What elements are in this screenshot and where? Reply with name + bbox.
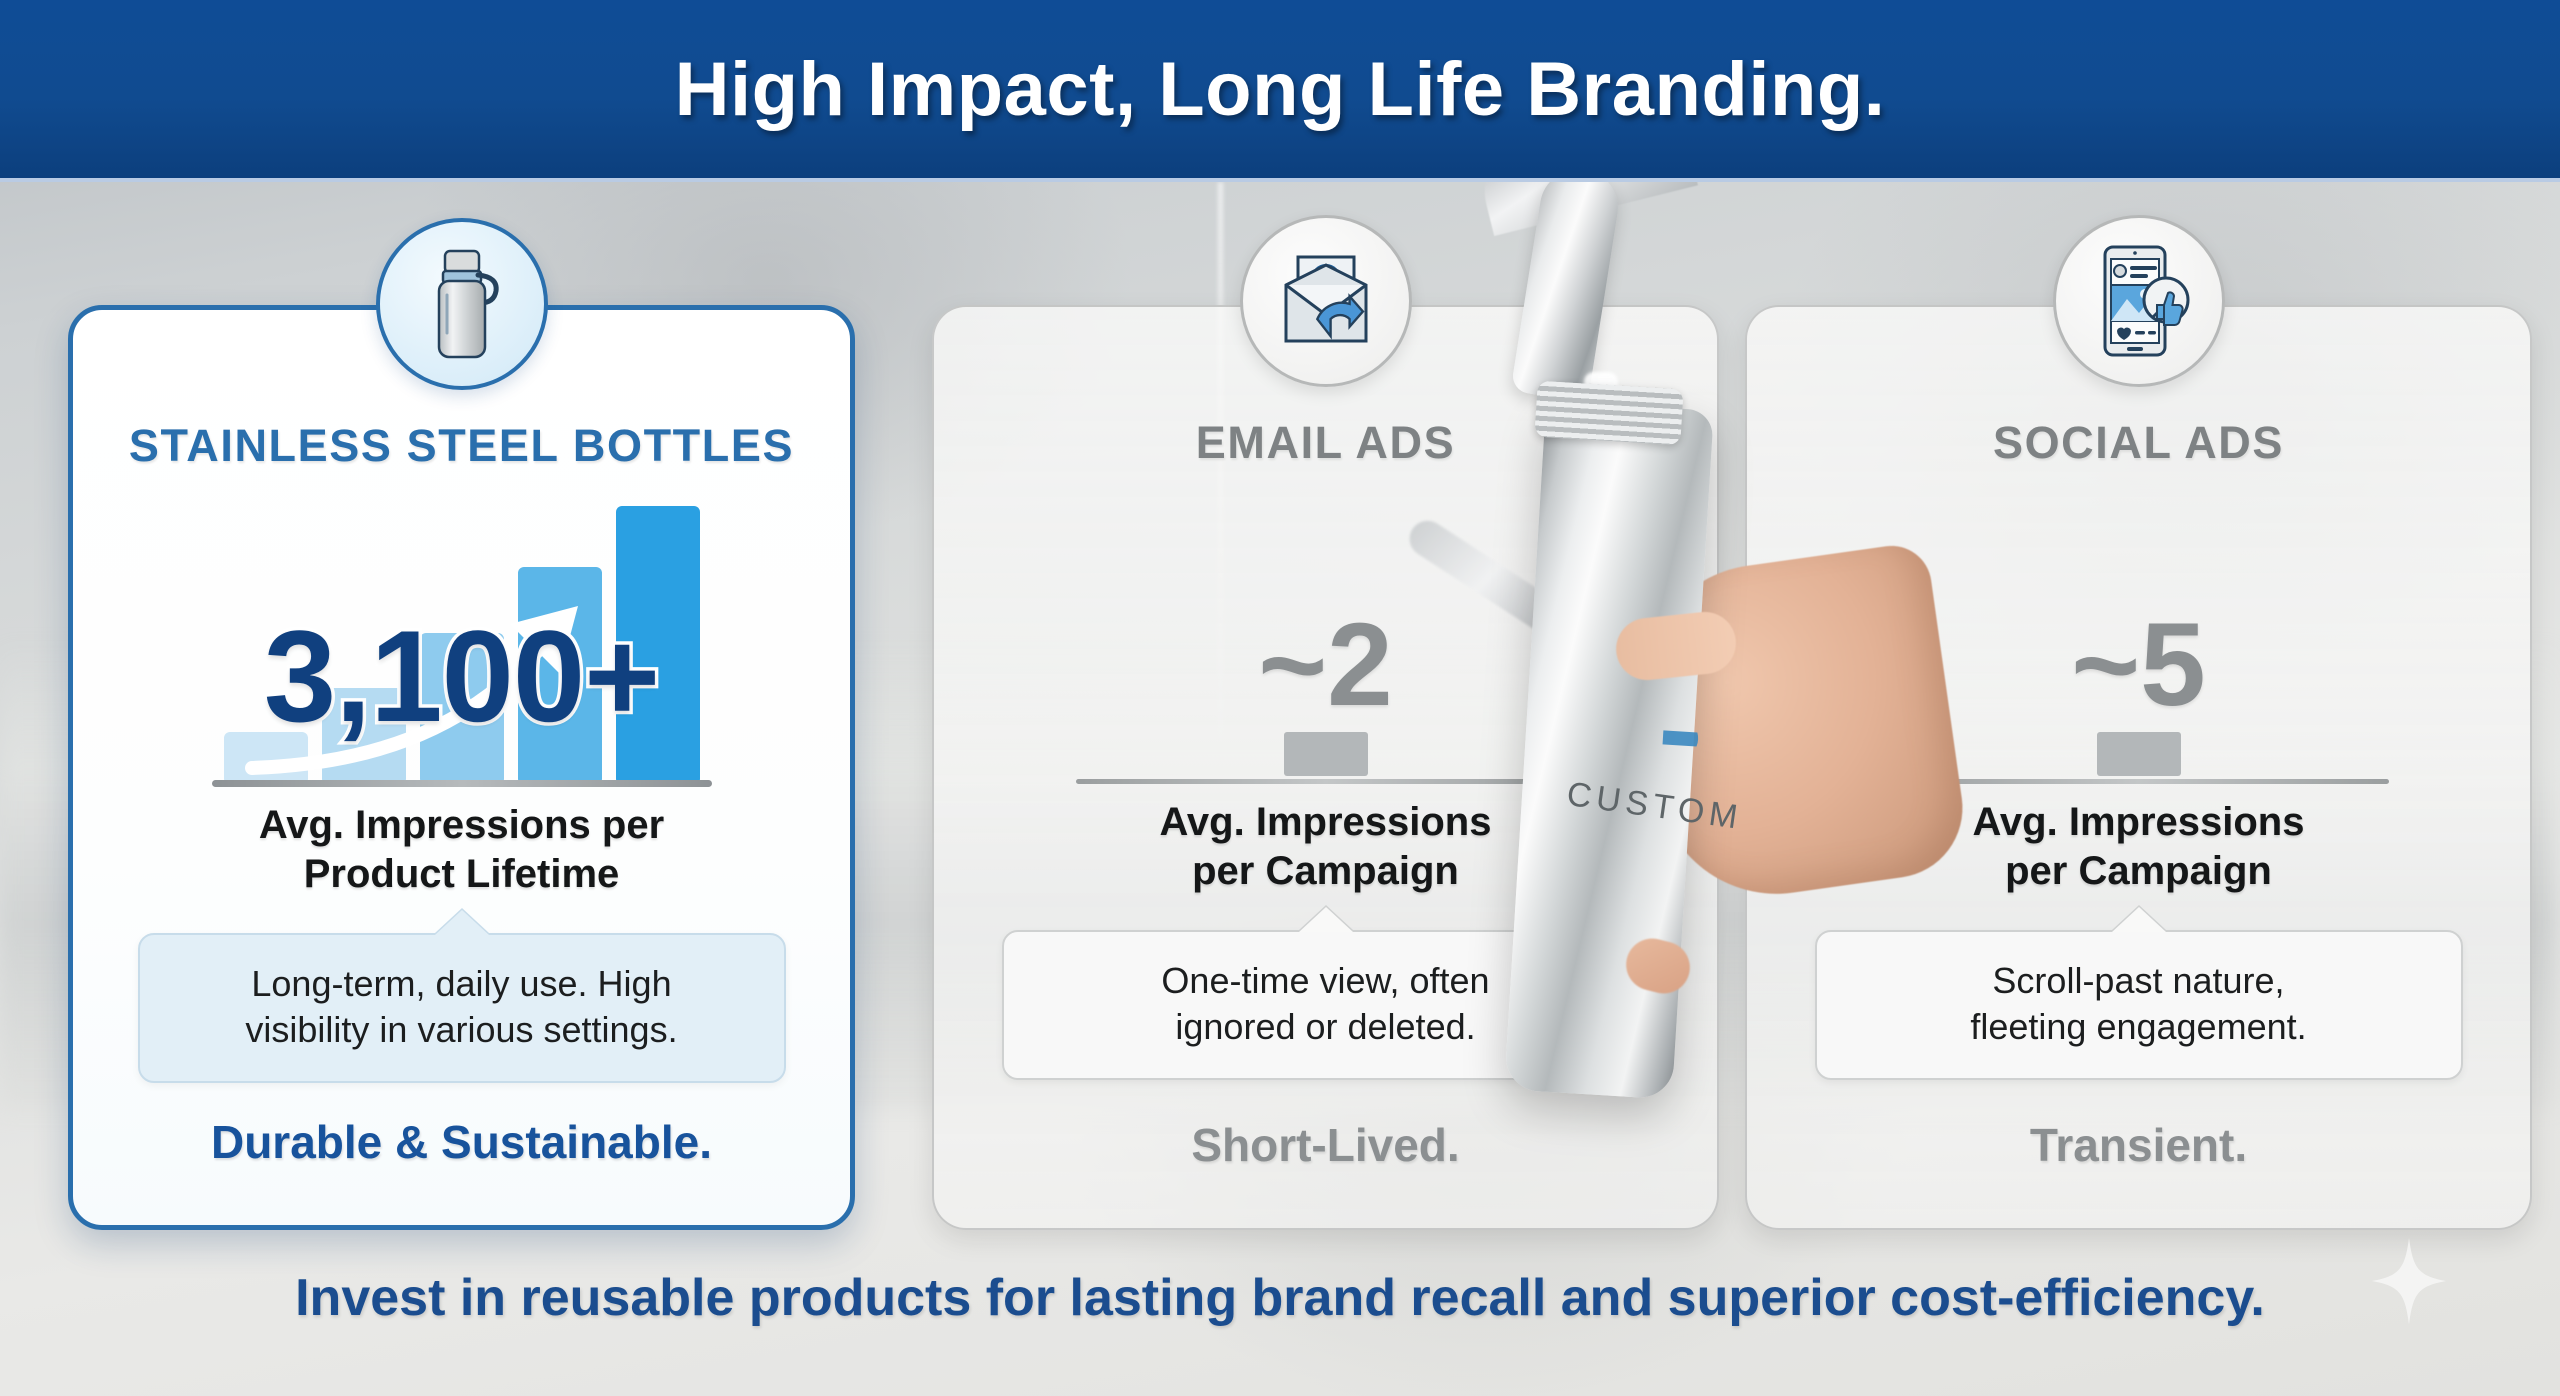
email-envelope-reply-icon xyxy=(1240,215,1412,387)
stat-label-line-2: Product Lifetime xyxy=(259,850,664,899)
card-footer-text: Transient. xyxy=(2030,1118,2247,1172)
chart-baseline xyxy=(1889,779,2389,784)
mini-bar xyxy=(1284,732,1368,776)
stat-label-line-2: per Campaign xyxy=(1973,847,2305,896)
card-footer-text: Durable & Sustainable. xyxy=(211,1115,712,1169)
stat-label-line-1: Avg. Impressions xyxy=(1973,798,2305,847)
stat-value: ~2 xyxy=(1258,606,1393,724)
stat-label: Avg. Impressions per Campaign xyxy=(1973,798,2305,896)
footer-caption: Invest in reusable products for lasting … xyxy=(0,1268,2560,1328)
comparison-cards: STAINLESS STEEL BOTTLES 3,100+ Avg. Impr… xyxy=(0,182,2560,1242)
chart-baseline xyxy=(1076,779,1576,784)
water-bottle-icon xyxy=(376,218,548,390)
callout-line-1: Long-term, daily use. High xyxy=(166,961,758,1007)
card-footer-text: Short-Lived. xyxy=(1191,1118,1459,1172)
card-title: EMAIL ADS xyxy=(1196,417,1455,469)
stat-value: ~5 xyxy=(2071,606,2206,724)
page-title: High Impact, Long Life Branding. xyxy=(675,46,1886,133)
stat-label-line-1: Avg. Impressions per xyxy=(259,801,664,850)
stat-label-line-1: Avg. Impressions xyxy=(1160,798,1492,847)
callout-bubble: Scroll-past nature, fleeting engagement. xyxy=(1815,930,2463,1080)
chart-baseline xyxy=(212,780,712,787)
card-title: SOCIAL ADS xyxy=(1993,417,2284,469)
callout-line-2: visibility in various settings. xyxy=(166,1007,758,1053)
stat-value: 3,100+ xyxy=(264,611,659,741)
card-title: STAINLESS STEEL BOTTLES xyxy=(129,420,794,472)
stat-label-line-2: per Campaign xyxy=(1160,847,1492,896)
card-stainless-steel-bottles[interactable]: STAINLESS STEEL BOTTLES 3,100+ Avg. Impr… xyxy=(68,305,855,1230)
stat-area: 3,100+ xyxy=(107,472,816,787)
bottle-collar xyxy=(1534,381,1683,446)
mini-bar xyxy=(2097,732,2181,776)
callout-line-1: Scroll-past nature, xyxy=(1843,958,2435,1004)
stat-label: Avg. Impressions per Product Lifetime xyxy=(259,801,664,899)
stat-label: Avg. Impressions per Campaign xyxy=(1160,798,1492,896)
header-banner: High Impact, Long Life Branding. xyxy=(0,0,2560,182)
callout-bubble: Long-term, daily use. High visibility in… xyxy=(138,933,786,1083)
callout-line-2: fleeting engagement. xyxy=(1843,1004,2435,1050)
smartphone-social-like-icon xyxy=(2053,215,2225,387)
